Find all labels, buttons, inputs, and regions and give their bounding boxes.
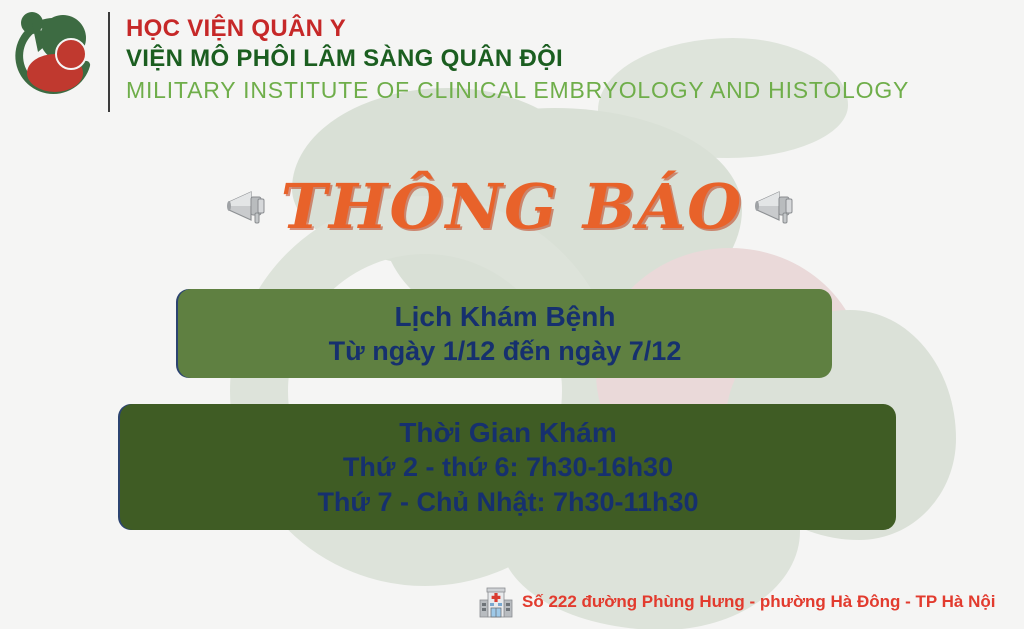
- poster-header: HỌC VIỆN QUÂN Y VIỆN MÔ PHÔI LÂM SÀNG QU…: [0, 0, 1024, 118]
- announcement-poster: HỌC VIỆN QUÂN Y VIỆN MÔ PHÔI LÂM SÀNG QU…: [0, 0, 1024, 629]
- exam-schedule-box: Lịch Khám Bệnh Từ ngày 1/12 đến ngày 7/1…: [178, 289, 832, 378]
- announcement-title-row: THÔNG BÁO: [0, 160, 1024, 252]
- org-line-hoc-vien-quan-y: HỌC VIỆN QUÂN Y: [126, 14, 909, 44]
- exam-hours-weekend: Thứ 7 - Chủ Nhật: 7h30-11h30: [317, 485, 698, 520]
- exam-hours-box: Thời Gian Khám Thứ 2 - thứ 6: 7h30-16h30…: [120, 404, 896, 530]
- mother-and-child-logo-icon: [8, 10, 100, 106]
- organization-name-block: HỌC VIỆN QUÂN Y VIỆN MÔ PHÔI LÂM SÀNG QU…: [126, 14, 909, 106]
- megaphone-icon-right: [753, 185, 799, 227]
- exam-hours-weekday: Thứ 2 - thứ 6: 7h30-16h30: [343, 450, 673, 485]
- address-text: Số 222 đường Phùng Hưng - phường Hà Đông…: [522, 592, 996, 612]
- address-footer: Số 222 đường Phùng Hưng - phường Hà Đông…: [478, 582, 996, 622]
- hospital-building-icon: [478, 584, 514, 620]
- org-line-vien-mo-phoi: VIỆN MÔ PHÔI LÂM SÀNG QUÂN ĐỘI: [126, 44, 909, 74]
- exam-schedule-heading: Lịch Khám Bệnh: [395, 299, 616, 334]
- page-title: THÔNG BÁO: [281, 170, 743, 243]
- exam-hours-heading: Thời Gian Khám: [399, 415, 616, 450]
- megaphone-icon-left: [225, 185, 271, 227]
- org-line-english: MILITARY INSTITUTE OF CLINICAL EMBRYOLOG…: [126, 74, 909, 106]
- exam-schedule-dates: Từ ngày 1/12 đến ngày 7/12: [329, 334, 682, 369]
- header-divider: [108, 12, 110, 112]
